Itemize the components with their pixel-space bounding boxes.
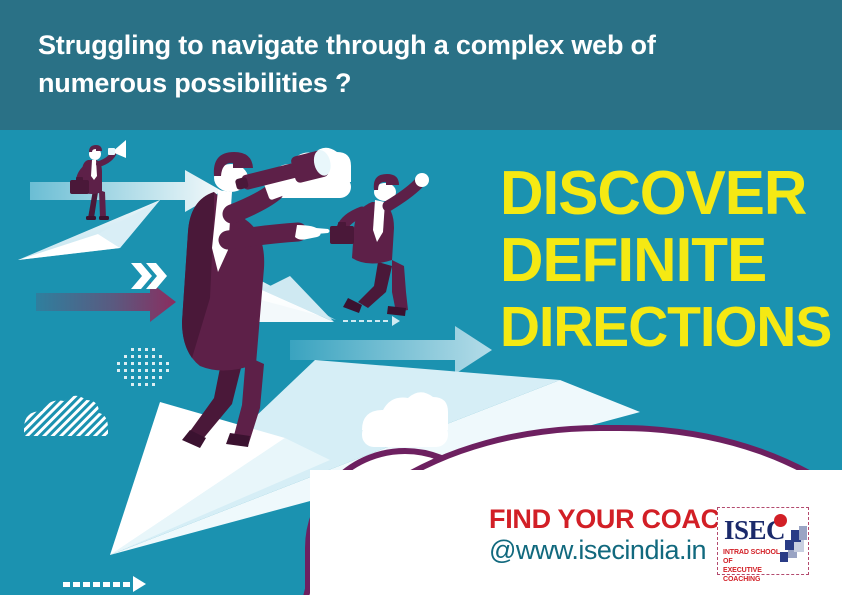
website-url[interactable]: @www.isecindia.in bbox=[489, 535, 739, 565]
branding-block: FIND YOUR COACH @www.isecindia.in ISEC I… bbox=[489, 505, 839, 585]
paper-plane-small-left bbox=[18, 200, 160, 260]
main-title-line-3: DIRECTIONS bbox=[500, 294, 832, 361]
poster-canvas: Struggling to navigate through a complex… bbox=[0, 0, 842, 595]
logo-tagline: INTRAD SCHOOL OF EXECUTIVE COACHING bbox=[723, 548, 789, 584]
logo-tagline-line-2: EXECUTIVE COACHING bbox=[723, 566, 789, 584]
cloud-striped bbox=[24, 396, 108, 436]
headline-line-1: Struggling to navigate through a complex… bbox=[38, 26, 798, 64]
header-band: Struggling to navigate through a complex… bbox=[0, 0, 842, 130]
isec-logo[interactable]: ISEC INTRAD SCHOOL OF EXECUTIVE COACHING bbox=[717, 507, 809, 575]
dotted-line-top bbox=[343, 316, 400, 326]
chevron-double bbox=[131, 263, 167, 289]
headline-line-2: numerous possibilities ? bbox=[38, 64, 798, 102]
main-title-line-2: DEFINITE bbox=[500, 227, 832, 294]
brand-text: FIND YOUR COACH @www.isecindia.in bbox=[489, 505, 739, 565]
arrow-long-top bbox=[30, 170, 222, 212]
dotted-arrow-left bbox=[63, 576, 146, 592]
dotted-grid bbox=[117, 348, 169, 386]
logo-tagline-line-1: INTRAD SCHOOL OF bbox=[723, 548, 789, 566]
figure-businessman-megaphone bbox=[70, 140, 126, 220]
main-title: DISCOVER DEFINITE DIRECTIONS bbox=[500, 160, 832, 361]
cta-find-your-coach: FIND YOUR COACH bbox=[489, 505, 739, 533]
headline-text: Struggling to navigate through a complex… bbox=[38, 26, 798, 102]
main-title-line-1: DISCOVER bbox=[500, 160, 832, 227]
